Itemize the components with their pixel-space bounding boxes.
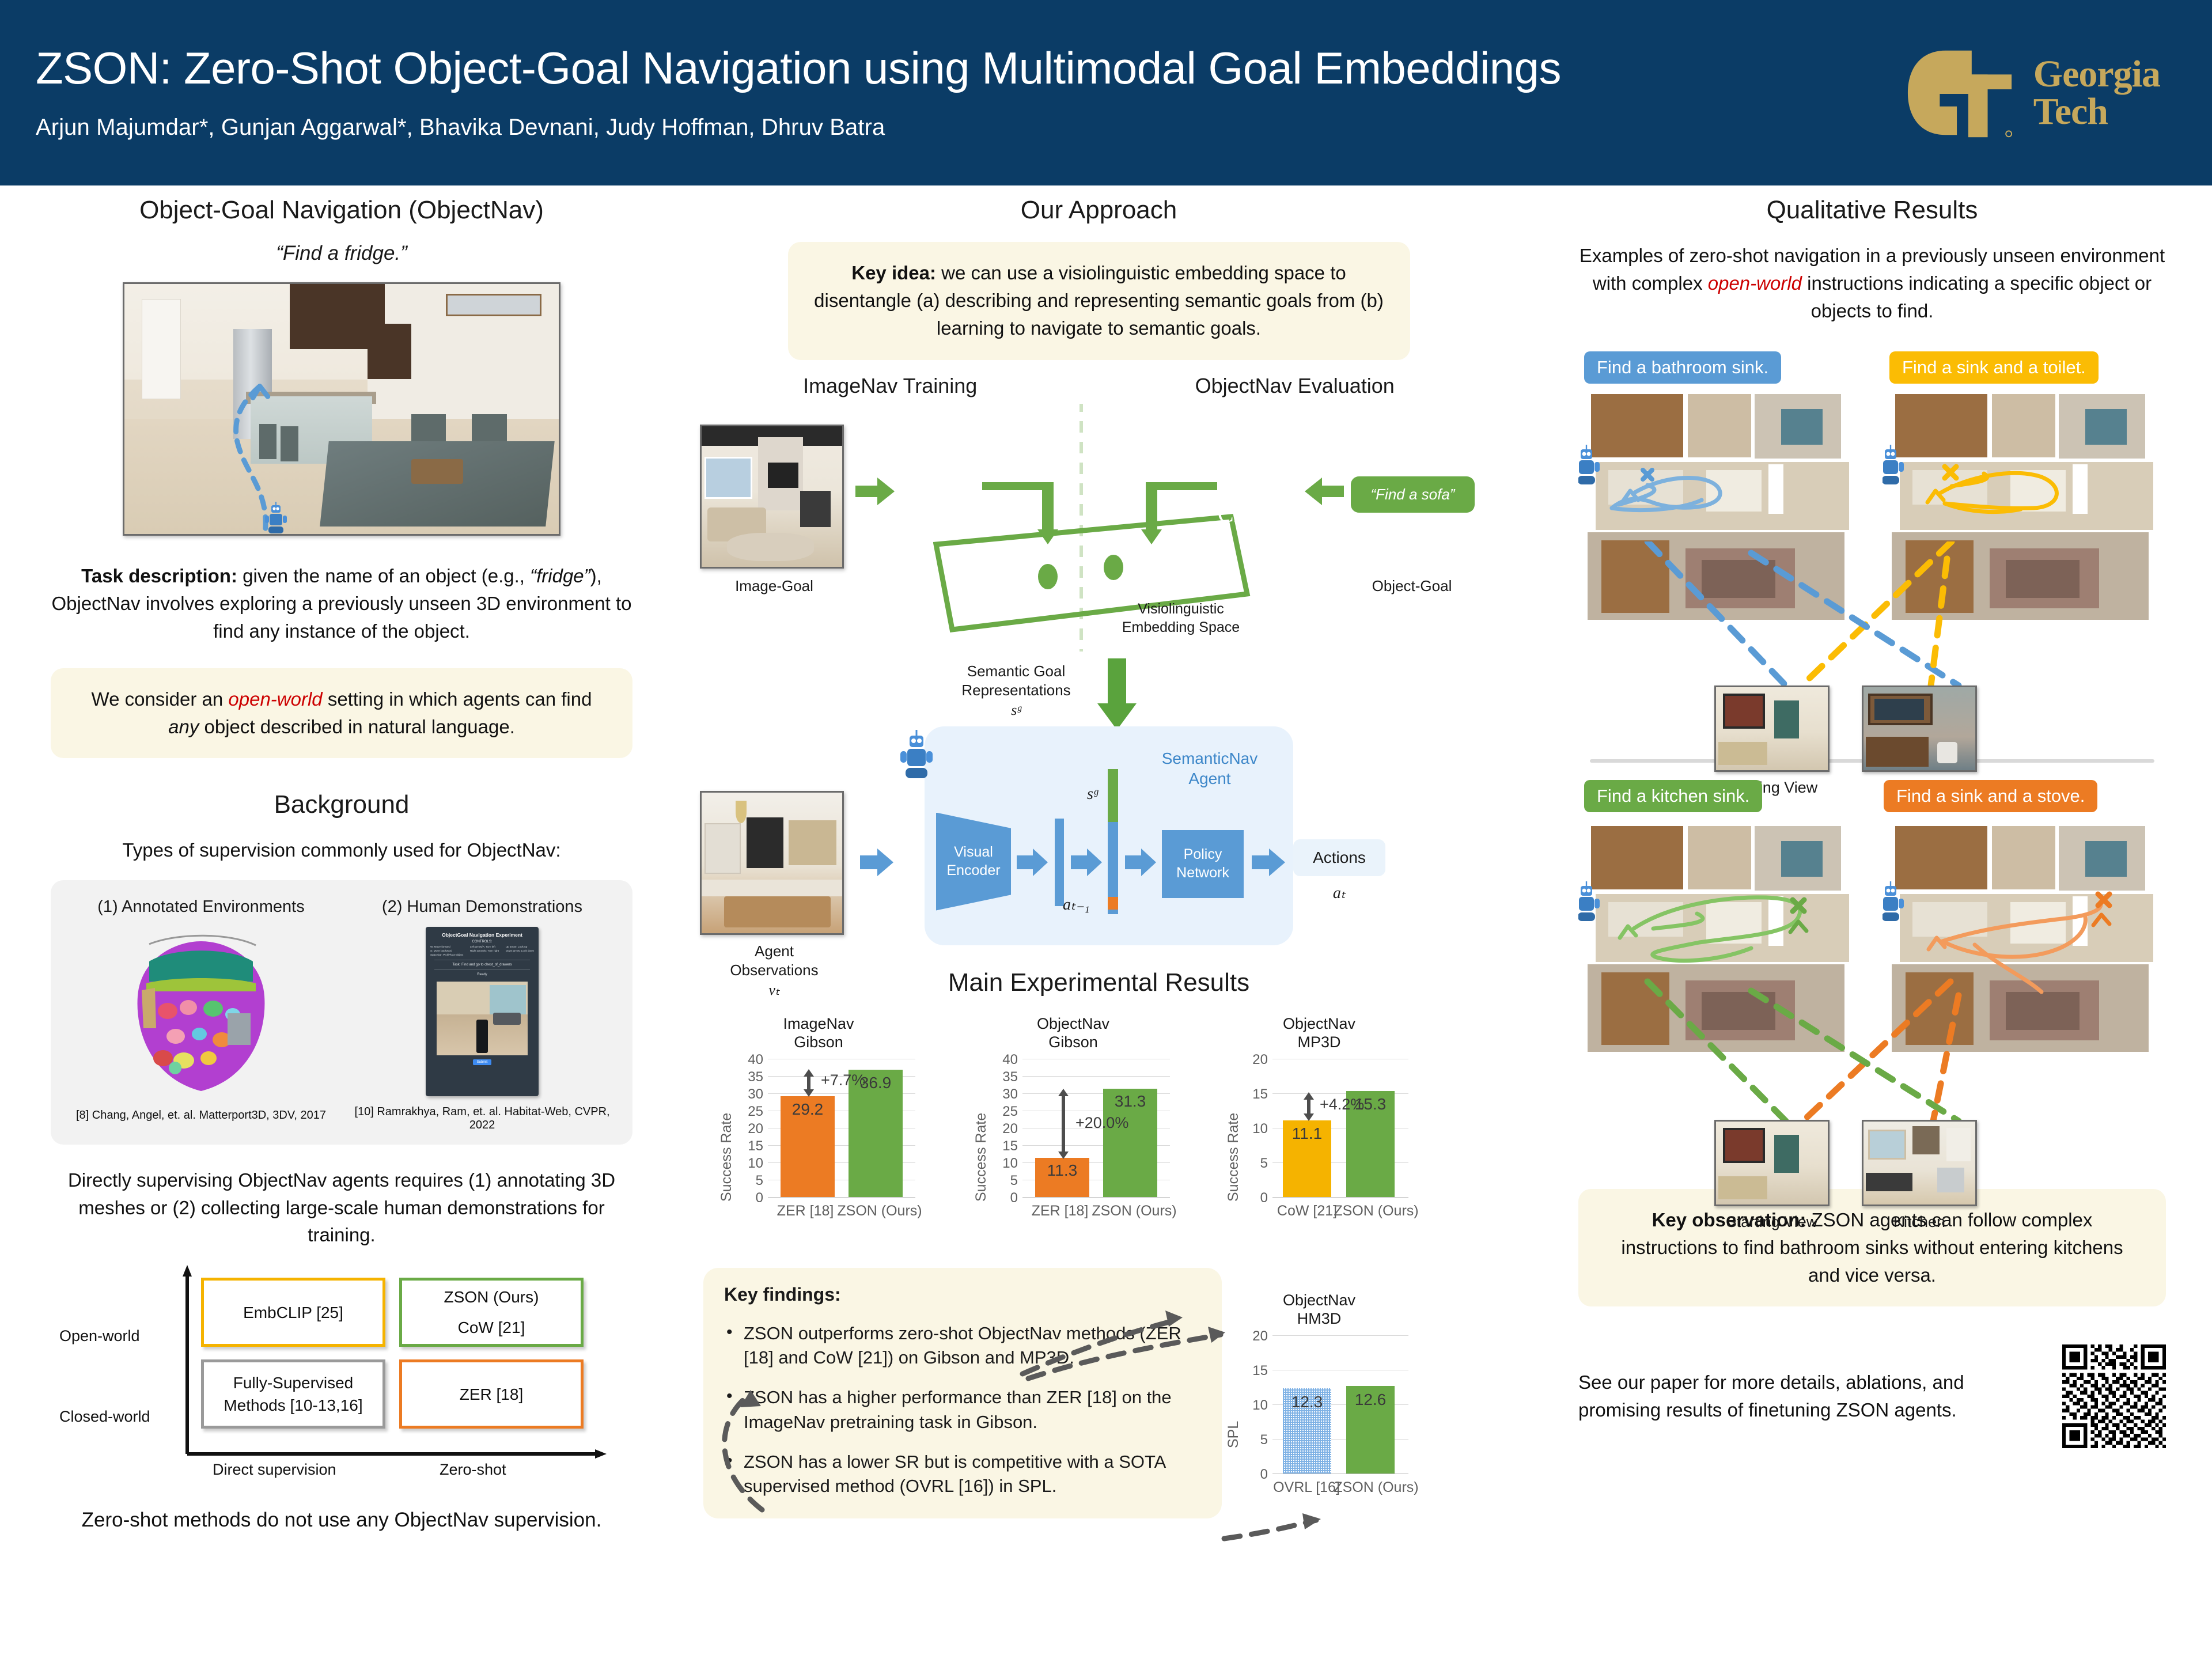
- quadrant-cell-fully-supervised: Fully-Supervised Methods [10-13,16]: [201, 1359, 385, 1429]
- qualitative-open-world-keyword: open-world: [1708, 272, 1802, 294]
- chart3-ytick-15: 15: [1239, 1086, 1268, 1103]
- chart1-xtick-1: ZSON (Ours): [834, 1203, 926, 1219]
- visual-encoder-block: VisualEncoder: [936, 813, 1011, 911]
- chart2-value-zson: 31.3: [1103, 1092, 1157, 1111]
- chart1-xtick-0: ZER [18]: [768, 1203, 843, 1219]
- callout-part-a: We consider an: [92, 688, 229, 710]
- qr-code-icon[interactable]: [2062, 1344, 2166, 1448]
- robot-icon: [895, 730, 938, 785]
- instruction-pill-bathroom-sink: Find a bathroom sink.: [1584, 351, 1781, 384]
- habitat-web-demo-ui: ObjectGoal Navigation Experiment CONTROL…: [426, 927, 539, 1096]
- lock-icon: [920, 532, 935, 551]
- task-description-rest: given the name of an object (e.g.,: [237, 565, 530, 586]
- prev-action-symbol: aₜ₋₁: [1063, 895, 1090, 914]
- gt-wordmark: Georgia Tech: [2033, 55, 2160, 131]
- quadrant-cell-zson-label: ZSON (Ours): [444, 1286, 539, 1308]
- floorplan-map-sink-toilet: [1883, 389, 2159, 631]
- demo-ui-controls-label: CONTROLS:: [472, 940, 492, 944]
- supervision-item-human-demonstrations: (2) Human Demonstrations ObjectGoal Navi…: [347, 897, 618, 1132]
- quadrant-cell-fs-label1: Fully-Supervised: [233, 1372, 354, 1394]
- qualitative-intro-b: instructions indicating a specific objec…: [1802, 272, 2152, 321]
- paper-note: See our paper for more details, ablation…: [1578, 1369, 2039, 1424]
- closing-note: Zero-shot methods do not use any ObjectN…: [51, 1506, 632, 1535]
- chart-objectnav-hm3d: ObjectNavHM3D SPL 20 15 10 5 0 12.3 12.6: [1224, 1291, 1414, 1491]
- chart2-delta-arrow-icon: [1056, 1089, 1071, 1159]
- thumb-caption-3: Starting View: [1714, 1213, 1830, 1231]
- phase-label-objectnav: ObjectNav Evaluation: [1195, 374, 1395, 398]
- chart3-title: ObjectNavMP3D: [1224, 1014, 1414, 1052]
- chart2-ytick-25: 25: [987, 1104, 1018, 1120]
- demo-ui-controls-col3: Up arrow: Look up Down arrow: Look down: [506, 945, 534, 957]
- chart4-value-zson: 12.6: [1346, 1391, 1395, 1409]
- objectnav-scene-image: [123, 282, 560, 536]
- supervision-head-2: (2) Human Demonstrations: [382, 897, 582, 916]
- quadrant-ylabel-top: Open-world: [59, 1327, 140, 1345]
- clip-text-encoder-label: CLIPt: [1218, 501, 1274, 531]
- chart2-xtick-1: ZSON (Ours): [1088, 1203, 1180, 1219]
- robot-icon: [260, 502, 291, 536]
- robot-icon: [1883, 881, 1908, 926]
- chart4-ytick-0: 0: [1239, 1467, 1268, 1483]
- semantic-goal-caption: Semantic GoalRepresentations sᵍ: [938, 662, 1094, 720]
- chart3-delta-label: +4.2%: [1320, 1096, 1364, 1113]
- chart4-title: ObjectNavHM3D: [1224, 1291, 1414, 1329]
- demo-ui-task: Task: Find and go to chest_of_drawers: [452, 963, 512, 967]
- instruction-pill-kitchen-sink: Find a kitchen sink.: [1584, 780, 1762, 812]
- page-title: ZSON: Zero-Shot Object-Goal Navigation u…: [36, 45, 1561, 92]
- gt-monogram-icon: [1904, 47, 2018, 139]
- task-description-label: Task description:: [81, 565, 237, 586]
- instruction-pill-sink-toilet: Find a sink and a toilet.: [1889, 351, 2099, 384]
- chart3-plot: Success Rate 20 15 10 5 0 11.1 15.3: [1224, 1059, 1414, 1214]
- semanticnav-agent-figure: Semantic GoalRepresentations sᵍ Semantic…: [694, 662, 1503, 984]
- chart-imagenav-gibson: ImageNavGibson Success Rate 40 35 30 25 …: [715, 1014, 922, 1215]
- chart1-ytick-40: 40: [732, 1052, 763, 1068]
- chart2-value-zer: 11.3: [1035, 1161, 1089, 1180]
- quadrant-ylabel-bottom: Closed-world: [59, 1408, 150, 1426]
- supervision-quadrant-chart: Open-world Closed-world Direct supervisi…: [59, 1264, 624, 1483]
- chart3-ytick-5: 5: [1239, 1156, 1268, 1172]
- matterport3d-mesh-image: [115, 927, 287, 1100]
- key-findings-box: Key findings: ZSON outperforms zero-shot…: [703, 1268, 1222, 1519]
- gt-wordmark-line1: Georgia: [2033, 55, 2160, 93]
- qualitative-thumbs-row-2: Starting View Kitchen: [1714, 1120, 1977, 1231]
- paper-reference-row: See our paper for more details, ablation…: [1578, 1344, 2166, 1448]
- chart1-value-zer: 29.2: [781, 1100, 835, 1119]
- prev-action-segment: [1108, 897, 1118, 910]
- chart1-plot: Success Rate 40 35 30 25 20 15 10 5 0: [715, 1059, 922, 1214]
- thumb-caption-4: Kitchen: [1862, 1213, 1977, 1231]
- supervision-heading: Types of supervision commonly used for O…: [51, 836, 632, 864]
- text-goal-bubble: “Find a sofa”: [1351, 476, 1475, 513]
- demo-ui-controls-col2: Left arrow/A: Turn left Right arrow/D: T…: [470, 945, 499, 957]
- background-section-title: Background: [51, 790, 632, 819]
- demo-ui-submit-button[interactable]: Submit: [473, 1059, 492, 1065]
- chart4-ytick-15: 15: [1239, 1363, 1268, 1379]
- qualitative-row-2: Find a kitchen sink. Find a sink and a s…: [1578, 780, 2166, 1183]
- chart1-title: ImageNavGibson: [715, 1014, 922, 1052]
- supervision-cite-2: [10] Ramrakhya, Ram, et. al. Habitat-Web…: [347, 1105, 618, 1132]
- quadrant-xlabel-right: Zero-shot: [440, 1461, 506, 1479]
- chart4-ytick-5: 5: [1239, 1432, 1268, 1448]
- chart4-xtick-1: ZSON (Ours): [1332, 1479, 1420, 1496]
- georgia-tech-logo: Georgia Tech: [1904, 47, 2176, 139]
- chart4-plot: SPL 20 15 10 5 0 12.3 12.6 OVRL [16] ZS: [1224, 1335, 1414, 1491]
- middle-column: Our Approach Key idea: we can use a visi…: [694, 196, 1503, 1567]
- chart2-ytick-35: 35: [987, 1069, 1018, 1085]
- goal-embedding-segment: [1108, 769, 1118, 822]
- chart1-ytick-10: 10: [732, 1156, 763, 1172]
- agent-path-icon: [124, 284, 559, 534]
- chart1-ytick-0: 0: [732, 1190, 763, 1206]
- chart3-xtick-0: CoW [21]: [1272, 1203, 1342, 1219]
- chart2-ytick-40: 40: [987, 1052, 1018, 1068]
- supervision-types-panel: (1) Annotated Environments: [51, 880, 632, 1145]
- chart2-ytick-15: 15: [987, 1138, 1018, 1154]
- sg-symbol: sᵍ: [1087, 785, 1098, 804]
- arrow-right-icon: [1071, 847, 1103, 877]
- chart2-plot: Success Rate 40 35 30 25 20 15 10 5 0: [969, 1059, 1177, 1214]
- demo-ui-controls-col1: W: Move forward S: Move backward Spaceba…: [430, 945, 463, 957]
- chart1-ytick-30: 30: [732, 1086, 763, 1103]
- image-goal-caption: Image-Goal: [702, 577, 846, 596]
- poster-header: ZSON: Zero-Shot Object-Goal Navigation u…: [0, 0, 2212, 185]
- chart2-xtick-0: ZER [18]: [1022, 1203, 1097, 1219]
- arrow-right-icon: [1252, 847, 1286, 877]
- embedding-space-caption: VisiolinguisticEmbedding Space: [1092, 600, 1270, 637]
- experimental-results-charts: ImageNavGibson Success Rate 40 35 30 25 …: [694, 1014, 1503, 1567]
- chart3-delta-arrow-icon: [1301, 1092, 1316, 1121]
- chart-objectnav-gibson: ObjectNavGibson Success Rate 40 35 30 25…: [969, 1014, 1177, 1215]
- key-findings-title: Key findings:: [724, 1284, 1201, 1305]
- qualitative-section-title: Qualitative Results: [1578, 196, 2166, 225]
- floorplan-map-sink-stove: [1883, 821, 2159, 1063]
- callout-part-c: object described in natural language.: [199, 716, 515, 737]
- clip-visual-encoder-label: CLIPv: [923, 501, 983, 531]
- instruction-pill-sink-stove: Find a sink and a stove.: [1884, 780, 2097, 812]
- quadrant-cell-zer-label: ZER [18]: [460, 1383, 523, 1406]
- supervision-summary: Directly supervising ObjectNav agents re…: [51, 1166, 632, 1249]
- image-goal-photo: [700, 425, 844, 569]
- objectnav-quote: “Find a fridge.”: [51, 242, 632, 265]
- gt-wordmark-line2: Tech: [2033, 93, 2160, 130]
- approach-section-title: Our Approach: [694, 196, 1503, 225]
- action-symbol: aₜ: [1293, 883, 1385, 903]
- chart4-ytick-20: 20: [1239, 1328, 1268, 1344]
- supervision-item-annotated-environments: (1) Annotated Environments: [66, 897, 336, 1132]
- chart1-ytick-5: 5: [732, 1173, 763, 1189]
- open-world-callout: We consider an open-world setting in whi…: [51, 668, 632, 758]
- arrow-right-icon: [860, 847, 895, 877]
- lock-icon: [1256, 532, 1271, 551]
- task-description-italic: “fridge”: [530, 565, 590, 586]
- robot-icon: [1883, 445, 1908, 490]
- actions-output: Actions: [1293, 839, 1385, 876]
- quadrant-xlabel-left: Direct supervision: [213, 1461, 336, 1479]
- header-text-block: ZSON: Zero-Shot Object-Goal Navigation u…: [36, 45, 1561, 141]
- floorplan-map-kitchen-sink: [1578, 821, 1855, 1063]
- chart4-ytick-10: 10: [1239, 1397, 1268, 1414]
- author-list: Arjun Majumdar*, Gunjan Aggarwal*, Bhavi…: [36, 115, 1561, 141]
- right-column: Qualitative Results Examples of zero-sho…: [1578, 196, 2166, 1448]
- quadrant-cell-embclip-label: EmbCLIP [25]: [243, 1301, 343, 1324]
- chart1-delta-arrow-icon: [801, 1069, 816, 1097]
- chart3-ytick-0: 0: [1239, 1190, 1268, 1206]
- chart-objectnav-mp3d: ObjectNavMP3D Success Rate 20 15 10 5 0 …: [1224, 1014, 1414, 1215]
- qualitative-row-1: Find a bathroom sink. Find a sink and a …: [1578, 351, 2166, 749]
- left-column: Object-Goal Navigation (ObjectNav) “Find…: [51, 196, 632, 1535]
- chart2-title: ObjectNavGibson: [969, 1014, 1177, 1052]
- quadrant-cell-fs-label2: Methods [10-13,16]: [224, 1394, 362, 1416]
- callout-part-b: setting in which agents can find: [323, 688, 592, 710]
- chart2-ytick-10: 10: [987, 1156, 1018, 1172]
- chart1-ytick-20: 20: [732, 1121, 763, 1137]
- key-finding-item: ZSON has a lower SR but is competitive w…: [724, 1450, 1201, 1499]
- objectnav-section-title: Object-Goal Navigation (ObjectNav): [51, 196, 632, 225]
- supervision-cite-1: [8] Chang, Angel, et. al. Matterport3D, …: [76, 1109, 326, 1122]
- quadrant-cell-cow-label: CoW [21]: [458, 1316, 525, 1339]
- qualitative-intro: Examples of zero-shot navigation in a pr…: [1578, 242, 2166, 325]
- robot-icon: [1578, 445, 1604, 490]
- chart2-ytick-5: 5: [987, 1173, 1018, 1189]
- semanticnav-agent-label: SemanticNavAgent: [1149, 748, 1270, 789]
- key-idea-label: Key idea:: [851, 262, 936, 283]
- chart3-value-cow: 11.1: [1283, 1124, 1331, 1143]
- chart2-ytick-0: 0: [987, 1190, 1018, 1206]
- key-finding-item: ZSON has a higher performance than ZER […: [724, 1385, 1201, 1435]
- thumbnail-kitchen: [1862, 1120, 1977, 1206]
- thumbnail-starting-view-1: [1714, 685, 1830, 772]
- chart1-ytick-35: 35: [732, 1069, 763, 1085]
- demo-ui-status: Ready: [477, 973, 487, 976]
- demo-ui-viewport: [437, 982, 528, 1055]
- floorplan-map-bathroom-sink: [1578, 389, 1855, 631]
- arrow-right-icon: [1125, 847, 1157, 877]
- thumbnail-bathroom: [1862, 685, 1977, 772]
- semantic-goal-arrow-icon: [1094, 658, 1140, 733]
- chart2-ytick-30: 30: [987, 1086, 1018, 1103]
- clip-embedding-figure: Image-Goal CLIPv CLIPt “Find a sofa” Obj…: [694, 404, 1503, 652]
- chart4-value-ovrl: 12.3: [1283, 1393, 1331, 1411]
- callout-open-world-keyword: open-world: [228, 688, 322, 710]
- robot-icon: [1578, 881, 1604, 926]
- chart3-ytick-20: 20: [1239, 1052, 1268, 1068]
- task-description: Task description: given the name of an o…: [51, 562, 632, 645]
- chart1-delta-label: +7.7%: [821, 1071, 865, 1089]
- object-goal-caption: Object-Goal: [1343, 577, 1481, 596]
- feature-vector-bar: [1055, 819, 1064, 906]
- quadrant-cell-zer: ZER [18]: [399, 1359, 584, 1429]
- supervision-head-1: (1) Annotated Environments: [97, 897, 304, 916]
- chart1-ytick-25: 25: [732, 1104, 763, 1120]
- key-idea-callout: Key idea: we can use a visiolinguistic e…: [788, 242, 1410, 360]
- approach-phase-labels: ImageNav Training ObjectNav Evaluation: [694, 374, 1503, 398]
- chart1-ytick-15: 15: [732, 1138, 763, 1154]
- key-finding-item: ZSON outperforms zero-shot ObjectNav met…: [724, 1321, 1201, 1371]
- thumbnail-starting-view-2: [1714, 1120, 1830, 1206]
- chart2-delta-label: +20.0%: [1075, 1114, 1128, 1132]
- phase-label-imagenav: ImageNav Training: [803, 374, 977, 398]
- arrow-right-icon: [1017, 847, 1049, 877]
- demo-ui-title: ObjectGoal Navigation Experiment: [442, 932, 522, 938]
- agent-observation-caption: AgentObservations vₜ: [702, 942, 846, 1000]
- chart2-ytick-20: 20: [987, 1121, 1018, 1137]
- quadrant-cell-zson: ZSON (Ours) CoW [21]: [399, 1278, 584, 1347]
- quadrant-cell-embclip: EmbCLIP [25]: [201, 1278, 385, 1347]
- policy-network-block: PolicyNetwork: [1162, 830, 1244, 898]
- agent-observation-photo: [700, 791, 844, 935]
- callout-any-keyword: any: [168, 716, 199, 737]
- chart3-ytick-10: 10: [1239, 1121, 1268, 1137]
- chart3-xtick-1: ZSON (Ours): [1332, 1203, 1420, 1219]
